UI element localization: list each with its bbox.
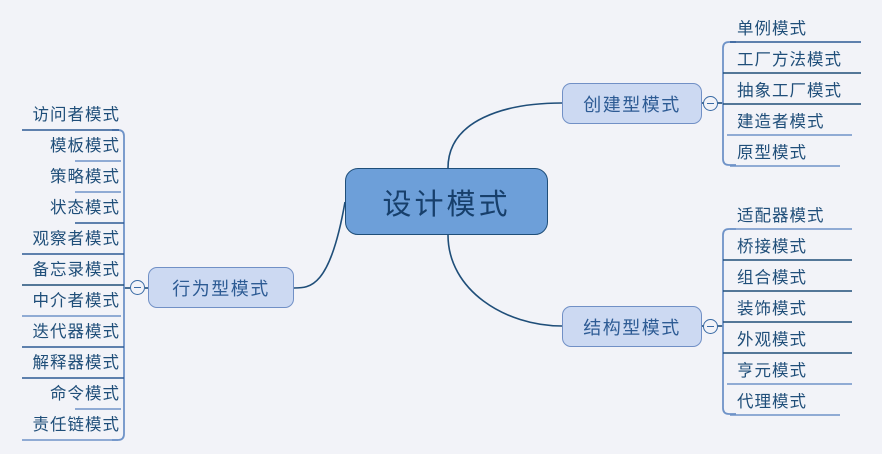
branch-node-label: 结构型模式 [583,314,681,340]
leaf-node[interactable]: 解释器模式 [33,352,121,374]
mindmap-canvas: 设计模式 创建型模式 结构型模式 行为型模式 单例模式 工厂方法模式 抽象工厂模… [0,0,882,454]
leaf-node[interactable]: 观察者模式 [33,228,121,250]
leaf-node[interactable]: 装饰模式 [737,298,807,320]
branch-node-behavioral[interactable]: 行为型模式 [148,267,294,308]
leaf-node[interactable]: 状态模式 [50,197,120,219]
branch-node-label: 行为型模式 [172,275,270,301]
root-node-design-patterns[interactable]: 设计模式 [345,168,548,235]
branch-node-structural[interactable]: 结构型模式 [562,306,702,347]
leaf-node[interactable]: 桥接模式 [737,236,807,258]
leaf-node[interactable]: 访问者模式 [33,104,121,126]
branch-node-creational[interactable]: 创建型模式 [562,83,702,124]
leaf-node[interactable]: 建造者模式 [737,111,825,133]
leaf-node[interactable]: 亨元模式 [737,360,807,382]
leaf-node[interactable]: 中介者模式 [33,290,121,312]
collapse-minus-icon-structural[interactable] [703,319,718,334]
collapse-minus-icon-creational[interactable] [703,96,718,111]
leaf-node[interactable]: 单例模式 [737,18,807,40]
leaf-node[interactable]: 备忘录模式 [33,259,121,281]
leaf-node[interactable]: 抽象工厂模式 [737,80,842,102]
leaf-node[interactable]: 责任链模式 [33,414,121,436]
leaf-node[interactable]: 外观模式 [737,329,807,351]
leaf-node[interactable]: 适配器模式 [737,205,825,227]
leaf-node[interactable]: 命令模式 [50,383,120,405]
collapse-minus-icon-behavioral[interactable] [130,280,145,295]
root-node-label: 设计模式 [382,181,510,223]
leaf-node[interactable]: 代理模式 [737,391,807,413]
branch-node-label: 创建型模式 [583,91,681,117]
leaf-node[interactable]: 组合模式 [737,267,807,289]
leaf-node[interactable]: 模板模式 [50,135,120,157]
leaf-node[interactable]: 策略模式 [50,166,120,188]
leaf-node[interactable]: 迭代器模式 [33,321,121,343]
leaf-node[interactable]: 工厂方法模式 [737,49,842,71]
leaf-node[interactable]: 原型模式 [737,142,807,164]
